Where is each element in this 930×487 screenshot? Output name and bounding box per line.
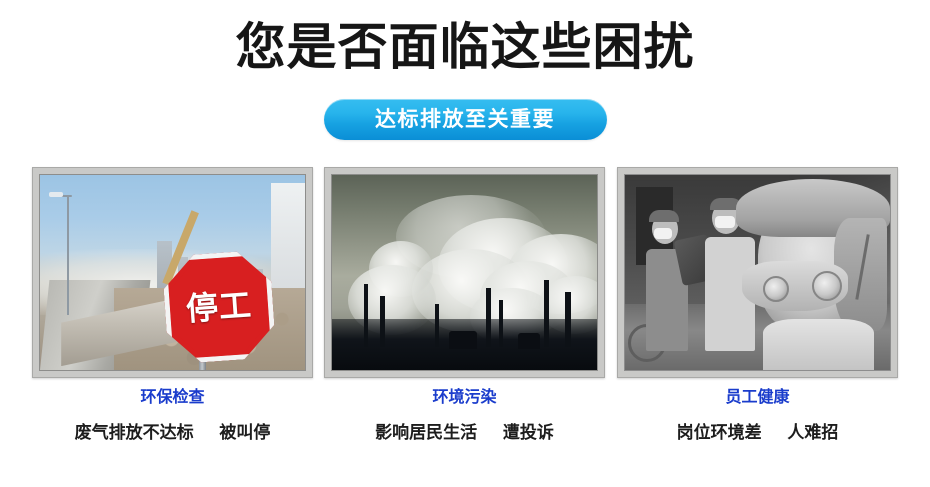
card-environmental-pollution[interactable]: 环境污染 影响居民生活 遭投诉: [324, 167, 605, 407]
card-desc-2-left: 影响居民生活: [375, 423, 477, 443]
cards-row: 停工 环保检查 废气排放不达标 被叫停: [0, 167, 930, 467]
stop-work-sign-label: 停工: [184, 289, 252, 326]
photo-frame-1: 停工: [32, 167, 313, 378]
smokestack: [364, 284, 368, 346]
card-caption-2: 环境污染: [324, 387, 605, 407]
card-caption-1: 环保检查: [32, 387, 313, 407]
foreground-worker-body: [763, 319, 874, 370]
smokestack: [499, 300, 503, 347]
background-worker-cap: [649, 210, 679, 222]
photo-frame-3: [617, 167, 898, 378]
card-desc-1: 废气排放不达标 被叫停: [32, 422, 313, 444]
background-building-right: [271, 183, 305, 304]
smokestack: [380, 296, 385, 347]
highlight-banner-label: 达标排放至关重要: [375, 109, 555, 130]
smokestack: [565, 292, 571, 347]
dust-mask-icon: [715, 216, 735, 228]
dust-mask-icon: [654, 228, 672, 239]
stop-work-sign-face: 停工: [166, 255, 271, 360]
street-lamp-head: [49, 192, 63, 197]
card-desc-1-right: 被叫停: [219, 423, 270, 443]
photo-demolition-site: 停工: [39, 174, 306, 371]
highlight-banner: 达标排放至关重要: [324, 99, 607, 140]
card-caption-3: 员工健康: [617, 387, 898, 407]
photo-smokestacks: [331, 174, 598, 371]
banner-row: 达标排放至关重要: [0, 99, 930, 140]
card-desc-3-left: 岗位环境差: [677, 423, 762, 443]
respirator-filter-cartridge: [812, 271, 842, 301]
storage-tank: [449, 331, 477, 349]
card-employee-health[interactable]: 员工健康 岗位环境差 人难招: [617, 167, 898, 407]
smokestack: [435, 304, 439, 347]
card-desc-1-left: 废气排放不达标: [75, 423, 194, 443]
smokestack: [486, 288, 491, 347]
photo-frame-2: [324, 167, 605, 378]
page-title: 您是否面临这些困扰: [0, 16, 930, 78]
card-desc-2: 影响居民生活 遭投诉: [324, 422, 605, 444]
card-desc-3: 岗位环境差 人难招: [617, 422, 898, 444]
card-desc-2-right: 遭投诉: [503, 423, 554, 443]
card-desc-3-right: 人难招: [787, 423, 838, 443]
photo-workers-respirators: [624, 174, 891, 371]
storage-tank: [518, 333, 540, 349]
smokestack: [544, 280, 549, 346]
card-environmental-inspection[interactable]: 停工 环保检查 废气排放不达标 被叫停: [32, 167, 313, 407]
street-lamp-pole: [67, 195, 69, 316]
